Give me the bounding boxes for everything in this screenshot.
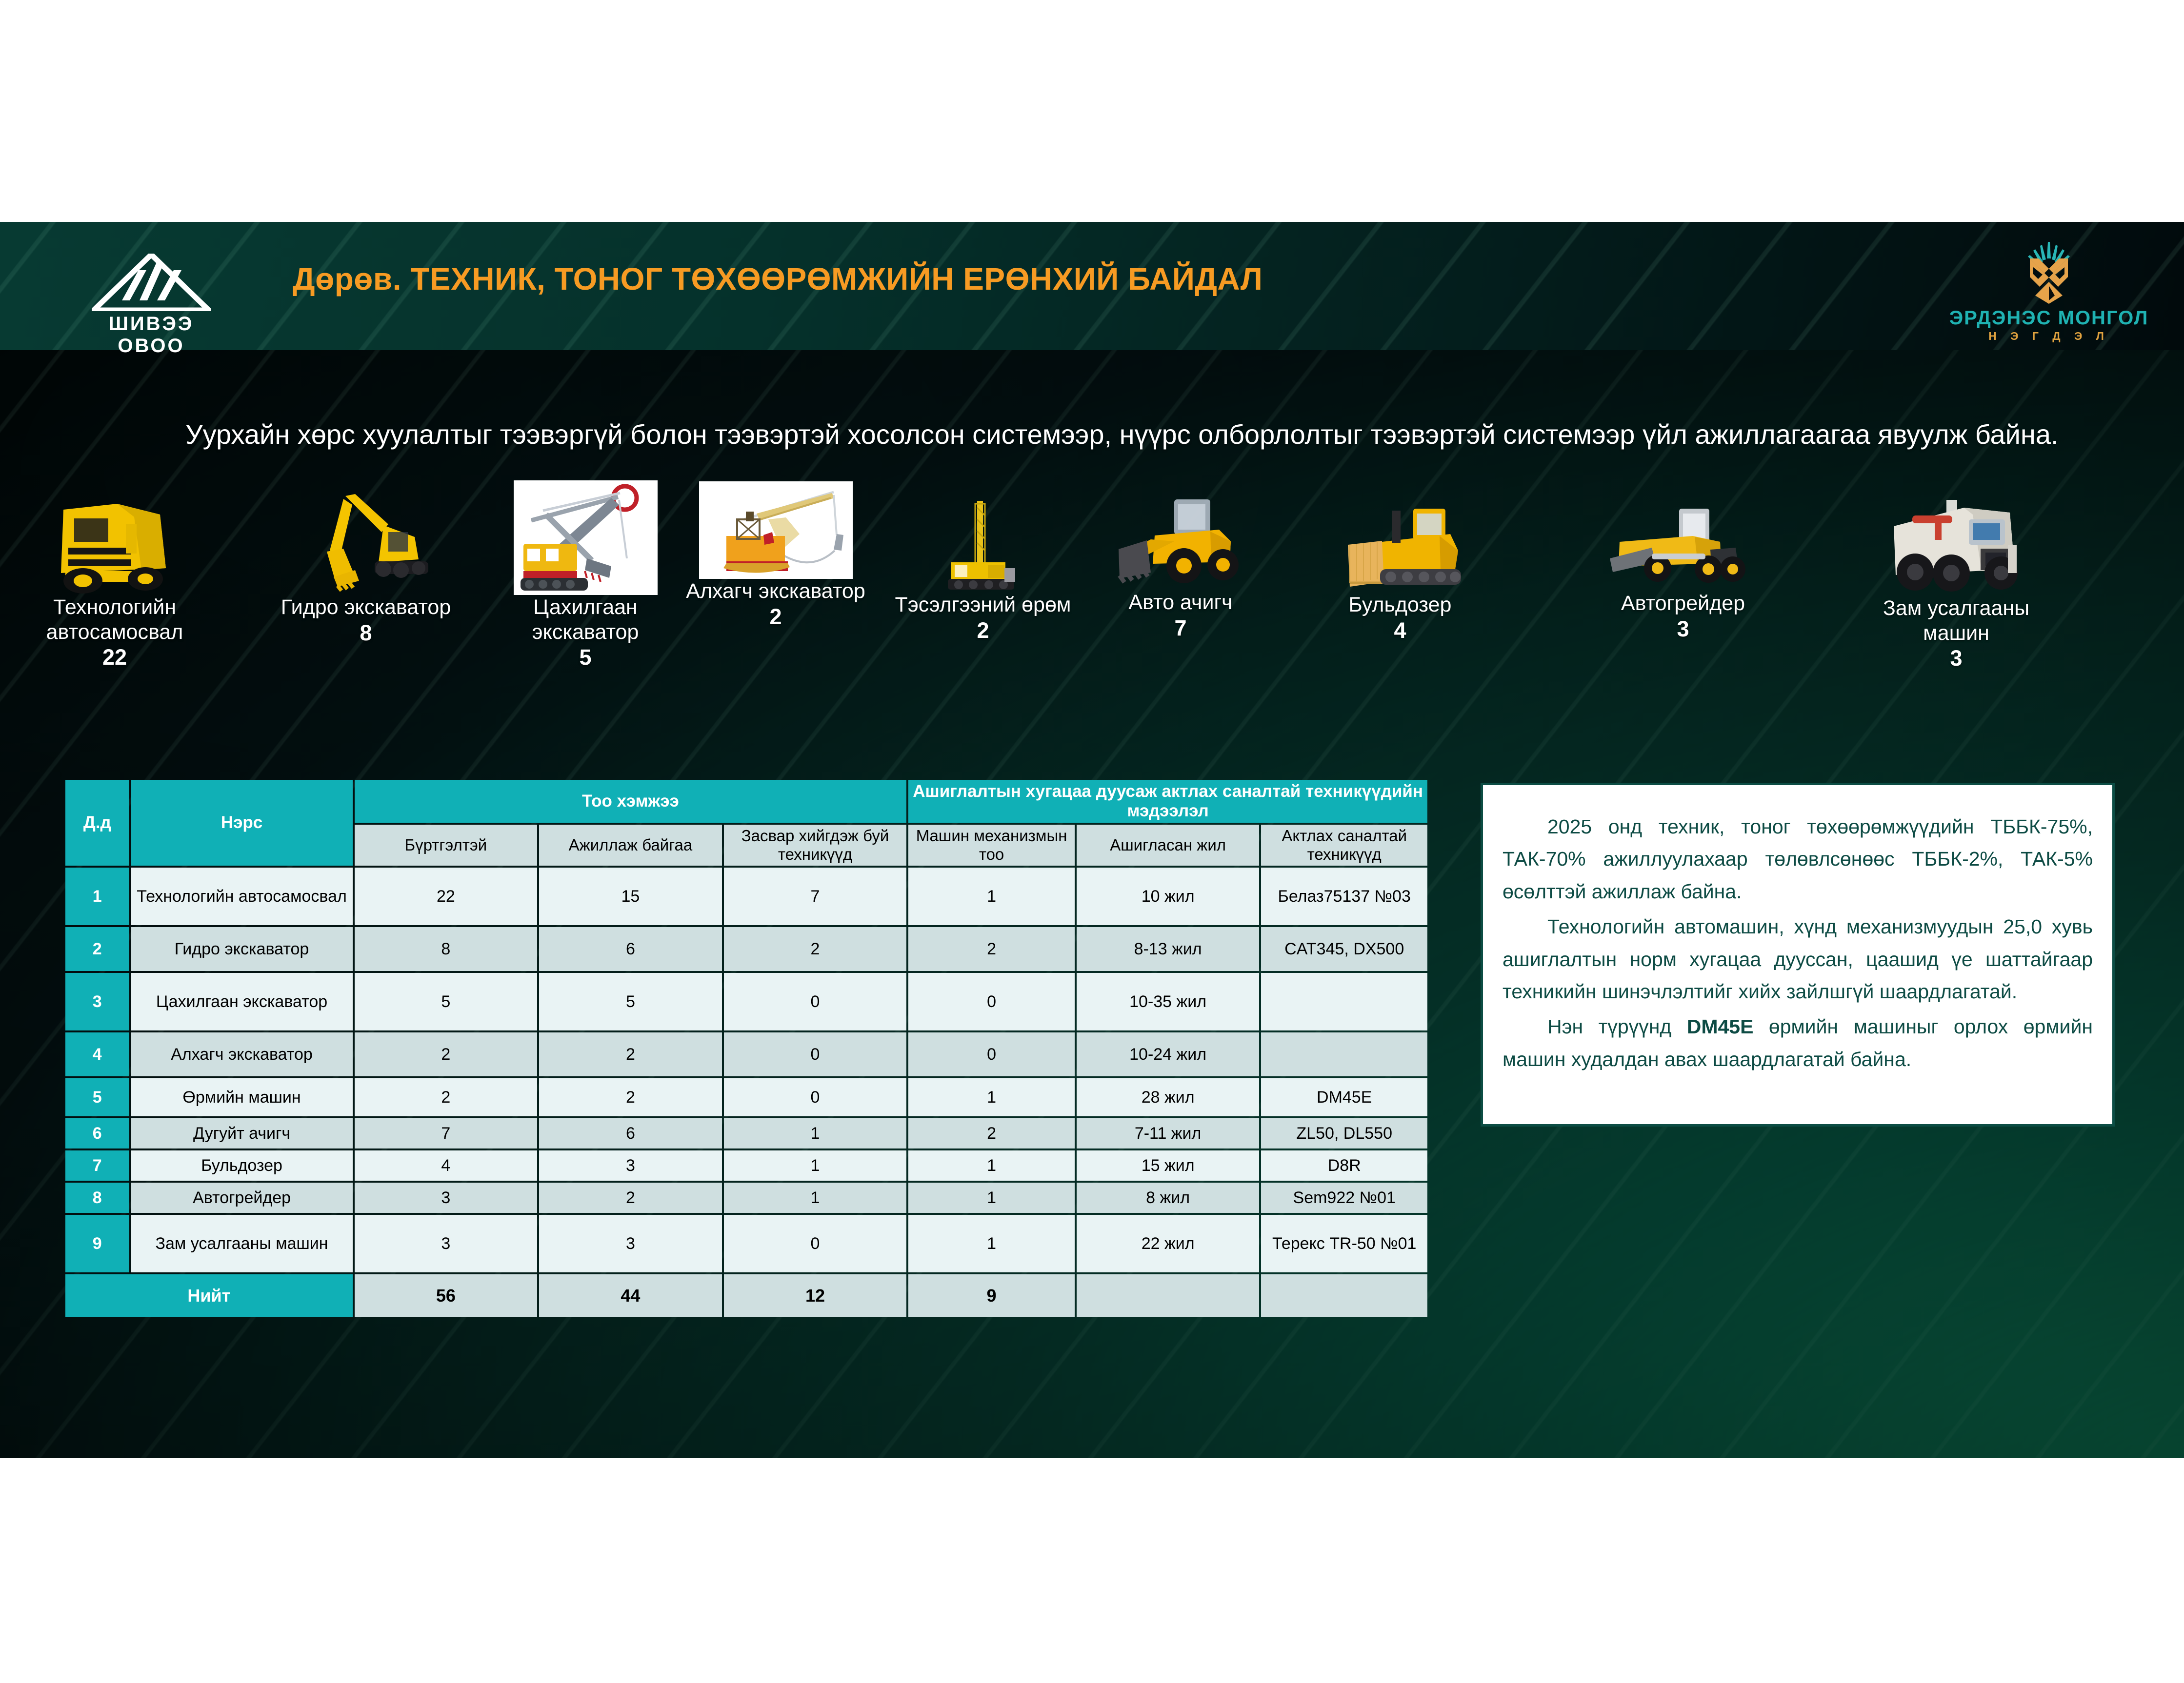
equipment-item: Алхагч экскаватор 2 bbox=[678, 481, 873, 630]
erdenes-mongol-subtitle: Н Э Г Д Э Л bbox=[1932, 330, 2166, 343]
equipment-name: Бульдозер bbox=[1302, 593, 1498, 617]
row-index: 8 bbox=[65, 1183, 129, 1213]
presentation-slide: ШИВЭЭ ОВОО Дөрөв. ТЕХНИК, ТОНОГ ТӨХӨӨРӨМ… bbox=[0, 222, 2184, 1458]
column-header-working: Ажиллаж байгаа bbox=[539, 825, 722, 866]
row-mech-count: 1 bbox=[908, 1183, 1075, 1213]
total-mech-count: 9 bbox=[908, 1274, 1075, 1317]
row-decommission: ZL50, DL550 bbox=[1261, 1118, 1427, 1148]
equipment-gallery: Технологийн автосамосвал 22 bbox=[0, 495, 2184, 768]
row-registered: 3 bbox=[355, 1183, 538, 1213]
row-registered: 4 bbox=[355, 1150, 538, 1181]
row-index: 5 bbox=[65, 1078, 129, 1116]
row-name: Дугуйт ачигч bbox=[131, 1118, 353, 1148]
row-repair: 1 bbox=[724, 1118, 907, 1148]
column-header-index: Д.д bbox=[65, 780, 129, 866]
column-header-years-used: Ашигласан жил bbox=[1077, 825, 1260, 866]
equipment-item: Авто ачигч 7 bbox=[1083, 493, 1278, 641]
row-working: 2 bbox=[539, 1183, 722, 1213]
equipment-name: Технологийн автосамосвал bbox=[10, 595, 220, 644]
equipment-name: Алхагч экскаватор bbox=[678, 579, 873, 604]
motor-grader-icon bbox=[1605, 501, 1761, 591]
row-registered: 2 bbox=[355, 1078, 538, 1116]
row-years-used: 10-35 жил bbox=[1077, 973, 1260, 1030]
row-working: 5 bbox=[539, 973, 722, 1030]
row-mech-count: 2 bbox=[908, 1118, 1075, 1148]
row-years-used: 15 жил bbox=[1077, 1150, 1260, 1181]
note-paragraph-1: 2025 онд техник, тоног төхөөрөмжүүдийн Т… bbox=[1503, 811, 2093, 908]
row-decommission: Белаз75137 №03 bbox=[1261, 868, 1427, 925]
equipment-count: 3 bbox=[1585, 616, 1781, 642]
equipment-count: 22 bbox=[10, 644, 220, 670]
row-index: 4 bbox=[65, 1032, 129, 1076]
walking-dragline-icon bbox=[699, 481, 853, 579]
erdenes-mongol-name: ЭРДЭНЭС МОНГОЛ bbox=[1932, 307, 2166, 329]
equipment-name: Тэсэлгээний өрөм bbox=[893, 593, 1073, 617]
total-decommission bbox=[1261, 1274, 1427, 1317]
row-repair: 7 bbox=[724, 868, 907, 925]
row-registered: 3 bbox=[355, 1215, 538, 1272]
equipment-count: 2 bbox=[893, 617, 1073, 643]
row-mech-count: 0 bbox=[908, 973, 1075, 1030]
row-index: 1 bbox=[65, 868, 129, 925]
row-working: 2 bbox=[539, 1032, 722, 1076]
row-registered: 8 bbox=[355, 927, 538, 971]
hydraulic-excavator-icon bbox=[293, 490, 439, 595]
row-repair: 0 bbox=[724, 1215, 907, 1272]
row-decommission bbox=[1261, 1032, 1427, 1076]
row-name: Алхагч экскаватор bbox=[131, 1032, 353, 1076]
row-repair: 0 bbox=[724, 973, 907, 1030]
row-working: 2 bbox=[539, 1078, 722, 1116]
note-p3-lead: Нэн түрүүнд bbox=[1547, 1015, 1687, 1038]
blast-drill-icon bbox=[924, 500, 1042, 593]
row-name: Гидро экскаватор bbox=[131, 927, 353, 971]
row-index: 2 bbox=[65, 927, 129, 971]
row-mech-count: 1 bbox=[908, 1215, 1075, 1272]
table-row: 4 Алхагч экскаватор 2 2 0 0 10-24 жил bbox=[65, 1032, 1427, 1076]
table-row: 7 Бульдозер 4 3 1 1 15 жил D8R bbox=[65, 1150, 1427, 1181]
row-index: 9 bbox=[65, 1215, 129, 1272]
row-index: 3 bbox=[65, 973, 129, 1030]
table-row: 2 Гидро экскаватор 8 6 2 2 8-13 жил CAT3… bbox=[65, 927, 1427, 971]
row-index: 7 bbox=[65, 1150, 129, 1181]
row-working: 3 bbox=[539, 1215, 722, 1272]
row-name: Зам усалгааны машин bbox=[131, 1215, 353, 1272]
equipment-item: Тэсэлгээний өрөм 2 bbox=[893, 500, 1073, 643]
column-group-quantity: Тоо хэмжээ bbox=[355, 780, 907, 823]
total-label: Нийт bbox=[65, 1274, 353, 1317]
row-working: 15 bbox=[539, 868, 722, 925]
wheel-loader-icon bbox=[1100, 493, 1261, 590]
row-working: 6 bbox=[539, 927, 722, 971]
bulldozer-icon bbox=[1320, 500, 1481, 593]
summary-note-box: 2025 онд техник, тоног төхөөрөмжүүдийн Т… bbox=[1481, 783, 2115, 1127]
row-mech-count: 1 bbox=[908, 1150, 1075, 1181]
table-row: 6 Дугуйт ачигч 7 6 1 2 7-11 жил ZL50, DL… bbox=[65, 1118, 1427, 1148]
equipment-table: Д.д Нэрс Тоо хэмжээ Ашиглалтын хугацаа д… bbox=[63, 778, 1429, 1319]
row-decommission: Sem922 №01 bbox=[1261, 1183, 1427, 1213]
column-header-mech-count: Машин механизмын тоо bbox=[908, 825, 1075, 866]
note-paragraph-2: Технологийн автомашин, хүнд механизмууды… bbox=[1503, 911, 2093, 1008]
row-working: 6 bbox=[539, 1118, 722, 1148]
row-years-used: 7-11 жил bbox=[1077, 1118, 1260, 1148]
page-title: Дөрөв. ТЕХНИК, ТОНОГ ТӨХӨӨРӨМЖИЙН ЕРӨНХИ… bbox=[293, 261, 1610, 297]
row-mech-count: 1 bbox=[908, 868, 1075, 925]
row-name: Бульдозер bbox=[131, 1150, 353, 1181]
row-registered: 7 bbox=[355, 1118, 538, 1148]
row-decommission bbox=[1261, 973, 1427, 1030]
row-decommission: DM45E bbox=[1261, 1078, 1427, 1116]
total-registered: 56 bbox=[355, 1274, 538, 1317]
erdenes-mongol-logo: ЭРДЭНЭС МОНГОЛ Н Э Г Д Э Л bbox=[1932, 239, 2166, 347]
column-group-decommission: Ашиглалтын хугацаа дуусаж актлах саналта… bbox=[908, 780, 1427, 823]
row-years-used: 10-24 жил bbox=[1077, 1032, 1260, 1076]
row-name: Өрмийн машин bbox=[131, 1078, 353, 1116]
table-header-row-1: Д.д Нэрс Тоо хэмжээ Ашиглалтын хугацаа д… bbox=[65, 780, 1427, 823]
row-mech-count: 2 bbox=[908, 927, 1075, 971]
table-row: 5 Өрмийн машин 2 2 0 1 28 жил DM45E bbox=[65, 1078, 1427, 1116]
equipment-name: Зам усалгааны машин bbox=[1849, 596, 2064, 645]
row-decommission: Терекс TR-50 №01 bbox=[1261, 1215, 1427, 1272]
table-row: 1 Технологийн автосамосвал 22 15 7 1 10 … bbox=[65, 868, 1427, 925]
total-working: 44 bbox=[539, 1274, 722, 1317]
row-decommission: D8R bbox=[1261, 1150, 1427, 1181]
row-repair: 0 bbox=[724, 1032, 907, 1076]
intro-paragraph: Уурхайн хөрс хуулалтыг тээвэргүй болон т… bbox=[85, 417, 2115, 453]
water-truck-icon bbox=[1868, 491, 2044, 596]
table-head: Д.д Нэрс Тоо хэмжээ Ашиглалтын хугацаа д… bbox=[65, 780, 1427, 866]
row-mech-count: 0 bbox=[908, 1032, 1075, 1076]
equipment-item: Гидро экскаватор 8 bbox=[273, 490, 459, 646]
row-name: Автогрейдер bbox=[131, 1183, 353, 1213]
row-years-used: 10 жил bbox=[1077, 868, 1260, 925]
table-row: 8 Автогрейдер 3 2 1 1 8 жил Sem922 №01 bbox=[65, 1183, 1427, 1213]
erdenes-emblem-icon bbox=[1989, 239, 2108, 305]
equipment-item: Зам усалгааны машин 3 bbox=[1849, 491, 2064, 672]
shivee-ovoo-wordmark: ШИВЭЭ ОВОО bbox=[73, 313, 229, 357]
electric-shovel-icon bbox=[514, 480, 658, 595]
table-row: 9 Зам усалгааны машин 3 3 0 1 22 жил Тер… bbox=[65, 1215, 1427, 1272]
total-repair: 12 bbox=[724, 1274, 907, 1317]
note-paragraph-3: Нэн түрүүнд DM45E өрмийн машиныг орлох ө… bbox=[1503, 1010, 2093, 1075]
column-header-decommission-list: Актлах саналтай техникүүд bbox=[1261, 825, 1427, 866]
row-mech-count: 1 bbox=[908, 1078, 1075, 1116]
equipment-item: Цахилгаан экскаватор 5 bbox=[493, 480, 678, 671]
row-registered: 2 bbox=[355, 1032, 538, 1076]
row-years-used: 8 жил bbox=[1077, 1183, 1260, 1213]
equipment-item: Технологийн автосамосвал 22 bbox=[10, 495, 220, 671]
slide-header: ШИВЭЭ ОВОО Дөрөв. ТЕХНИК, ТОНОГ ТӨХӨӨРӨМ… bbox=[0, 222, 2184, 350]
total-years-used bbox=[1077, 1274, 1260, 1317]
equipment-count: 5 bbox=[493, 644, 678, 670]
equipment-name: Цахилгаан экскаватор bbox=[493, 595, 678, 644]
mountain-logo-icon bbox=[92, 254, 211, 311]
haul-truck-icon bbox=[44, 495, 185, 595]
row-registered: 22 bbox=[355, 868, 538, 925]
table-body: 1 Технологийн автосамосвал 22 15 7 1 10 … bbox=[65, 868, 1427, 1317]
table-row: 3 Цахилгаан экскаватор 5 5 0 0 10-35 жил bbox=[65, 973, 1427, 1030]
row-repair: 2 bbox=[724, 927, 907, 971]
column-header-name: Нэрс bbox=[131, 780, 353, 866]
row-years-used: 22 жил bbox=[1077, 1215, 1260, 1272]
row-registered: 5 bbox=[355, 973, 538, 1030]
table-total-row: Нийт 56 44 12 9 bbox=[65, 1274, 1427, 1317]
row-repair: 1 bbox=[724, 1150, 907, 1181]
equipment-name: Гидро экскаватор bbox=[273, 595, 459, 620]
equipment-name: Автогрейдер bbox=[1585, 591, 1781, 616]
equipment-name: Авто ачигч bbox=[1083, 590, 1278, 615]
row-years-used: 8-13 жил bbox=[1077, 927, 1260, 971]
row-repair: 0 bbox=[724, 1078, 907, 1116]
row-working: 3 bbox=[539, 1150, 722, 1181]
equipment-table-container: Д.д Нэрс Тоо хэмжээ Ашиглалтын хугацаа д… bbox=[63, 778, 1429, 1319]
equipment-count: 3 bbox=[1849, 645, 2064, 671]
row-name: Технологийн автосамосвал bbox=[131, 868, 353, 925]
equipment-count: 2 bbox=[678, 604, 873, 630]
equipment-count: 7 bbox=[1083, 615, 1278, 641]
row-name: Цахилгаан экскаватор bbox=[131, 973, 353, 1030]
equipment-count: 8 bbox=[273, 620, 459, 646]
row-index: 6 bbox=[65, 1118, 129, 1148]
equipment-item: Автогрейдер 3 bbox=[1585, 501, 1781, 642]
row-decommission: CAT345, DX500 bbox=[1261, 927, 1427, 971]
column-header-repair: Засвар хийгдэж буй техникүүд bbox=[724, 825, 907, 866]
equipment-item: Бульдозер 4 bbox=[1302, 500, 1498, 643]
note-highlight-model: DM45E bbox=[1687, 1015, 1754, 1038]
equipment-count: 4 bbox=[1302, 617, 1498, 643]
row-years-used: 28 жил bbox=[1077, 1078, 1260, 1116]
row-repair: 1 bbox=[724, 1183, 907, 1213]
column-header-registered: Бүртгэлтэй bbox=[355, 825, 538, 866]
shivee-ovoo-logo: ШИВЭЭ ОВОО bbox=[73, 254, 229, 339]
